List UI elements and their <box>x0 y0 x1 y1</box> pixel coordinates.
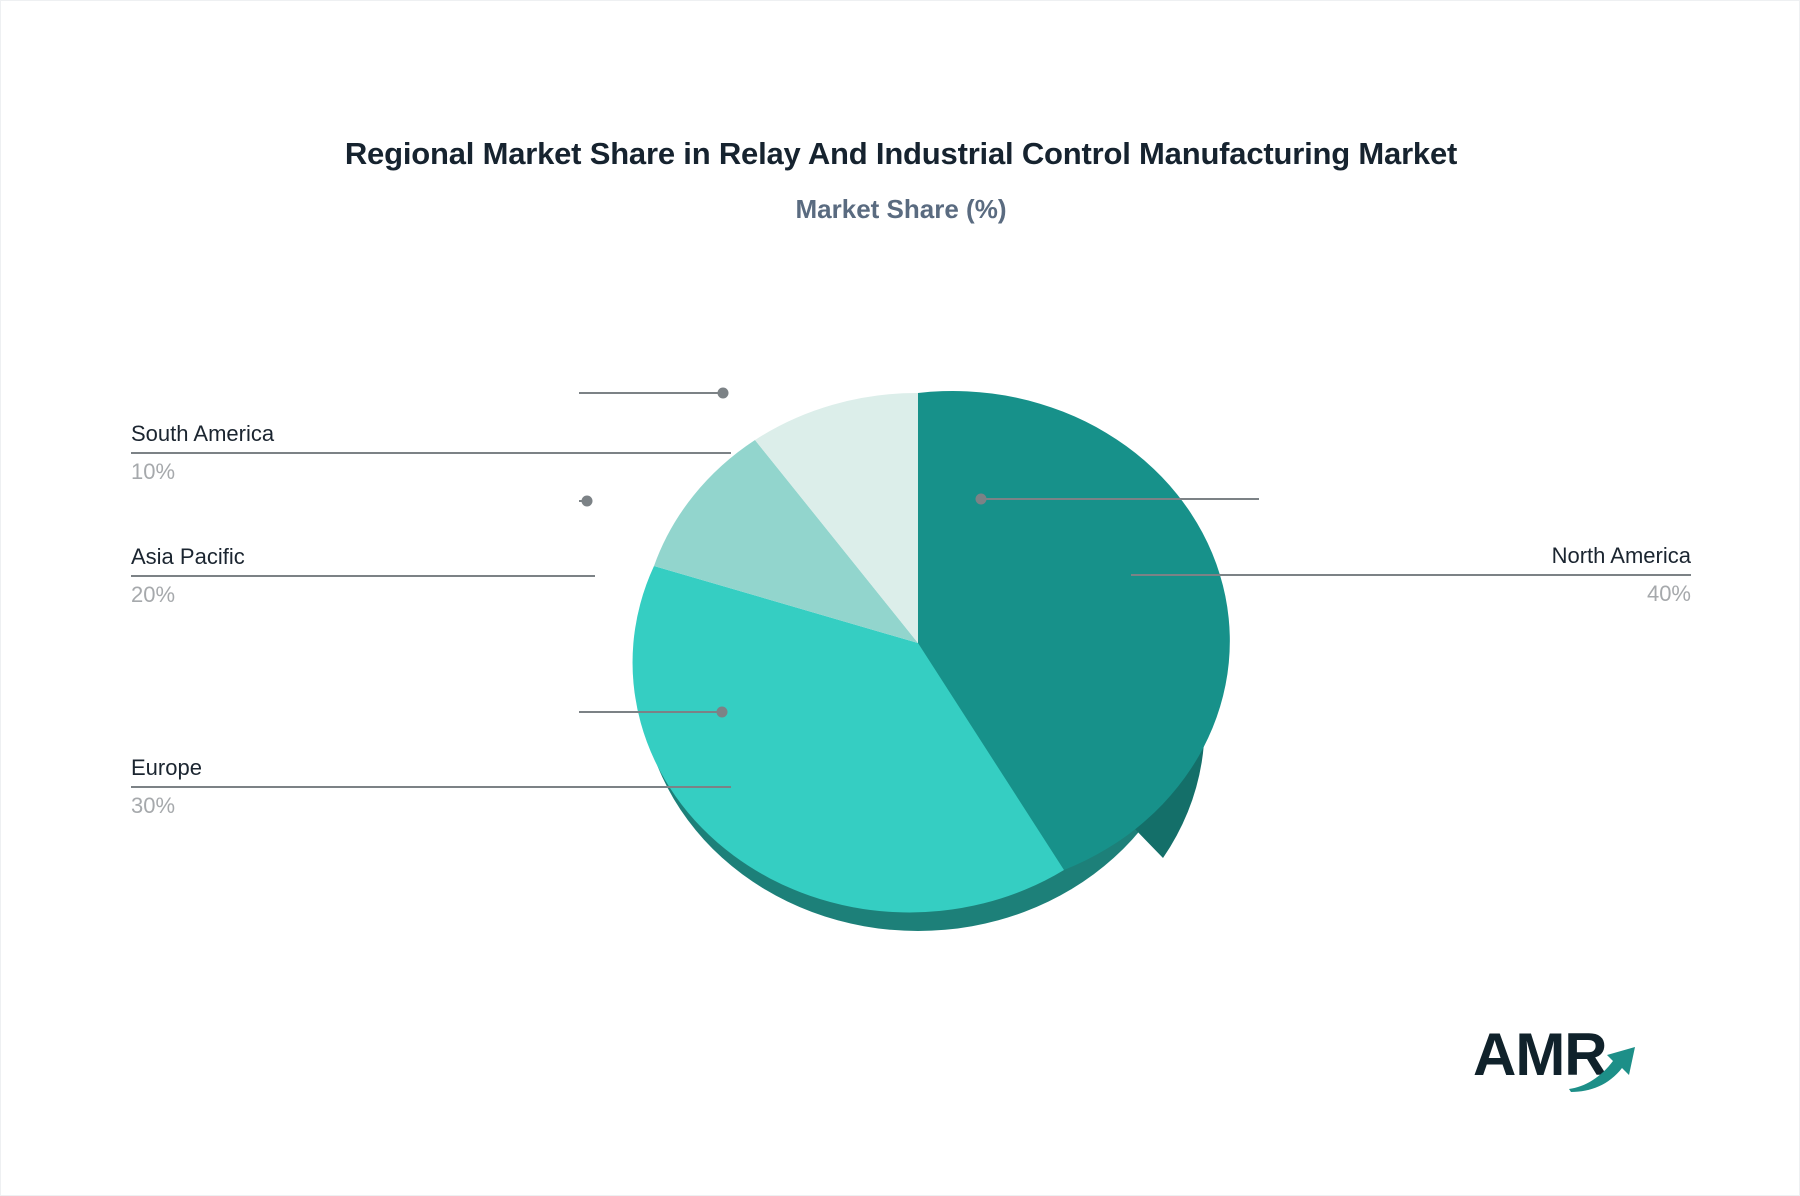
callout-rule-north-america <box>1131 574 1691 576</box>
callout-north-america: North America 40% <box>1131 541 1691 610</box>
callout-south-america: South America 10% <box>131 419 731 488</box>
amr-logo: AMR <box>1473 1019 1653 1093</box>
callout-europe: Europe 30% <box>131 753 731 822</box>
page-title: Regional Market Share in Relay And Indus… <box>1 136 1800 172</box>
callout-value-south-america: 10% <box>131 456 731 488</box>
callout-asia-pacific: Asia Pacific 20% <box>131 542 595 611</box>
callout-label-north-america: North America <box>1131 541 1691 571</box>
callout-label-south-america: South America <box>131 419 731 449</box>
callout-label-asia-pacific: Asia Pacific <box>131 542 595 572</box>
callout-rule-asia-pacific <box>131 575 595 577</box>
leader-dot-north-america <box>976 494 987 505</box>
leader-dot-europe <box>717 707 728 718</box>
amr-logo-text: AMR <box>1473 1021 1607 1088</box>
callout-rule-europe <box>131 786 731 788</box>
leader-dot-south-america <box>718 388 729 399</box>
leader-dot-asia-pacific <box>582 496 593 507</box>
callout-rule-south-america <box>131 452 731 454</box>
callout-label-europe: Europe <box>131 753 731 783</box>
chart-canvas: Regional Market Share in Relay And Indus… <box>0 0 1800 1196</box>
callout-value-europe: 30% <box>131 790 731 822</box>
chart-subtitle: Market Share (%) <box>1 194 1800 225</box>
callout-value-north-america: 40% <box>1131 578 1691 610</box>
callout-value-asia-pacific: 20% <box>131 579 595 611</box>
